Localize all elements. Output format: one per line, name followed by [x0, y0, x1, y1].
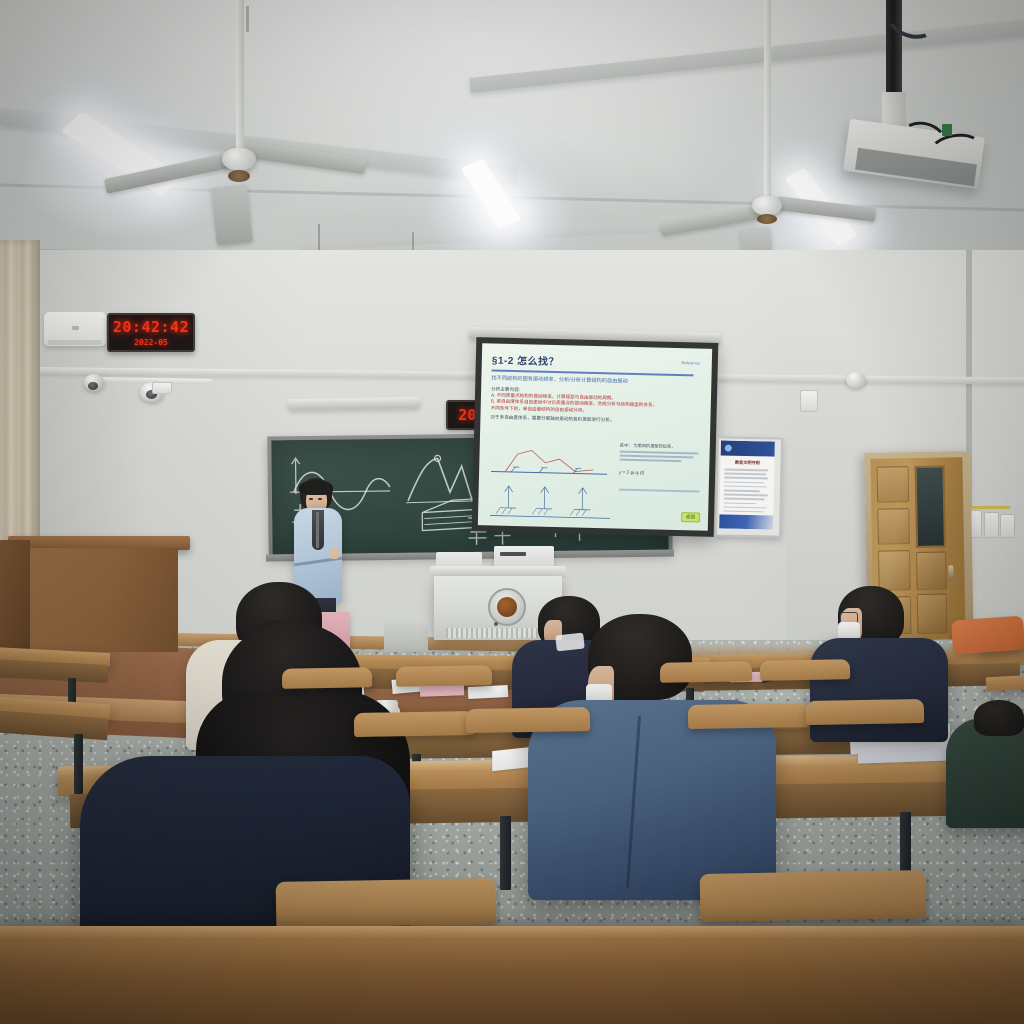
poster-line [724, 489, 760, 491]
poster-logo-icon [725, 445, 732, 452]
wall-socket-2 [984, 512, 999, 538]
hanging-wire-3 [246, 6, 249, 32]
security-camera-3 [846, 372, 866, 388]
poster-line [724, 485, 767, 487]
slide-title: §1-2 怎么找？ [492, 351, 702, 371]
chair-back [688, 703, 808, 729]
poster-line [724, 469, 768, 472]
security-camera-1-lens [88, 382, 98, 390]
desk-leg [74, 734, 83, 794]
student-3-collar [555, 633, 585, 652]
chair-back-foreground [700, 870, 927, 922]
projector-indicator [942, 124, 952, 136]
chair-back [760, 659, 850, 681]
slide-line-4: 对于多自由度体系，需要分离轴向振动的各阶振型进行分析。 [490, 415, 700, 427]
poster-footer-band [719, 514, 773, 529]
teacher-eye-right [318, 498, 322, 500]
podium-button[interactable] [494, 622, 498, 626]
slide-note-right: 其中： 为第四阶振型的位移， [620, 443, 704, 451]
teacher-hair-front [299, 480, 333, 495]
lectern-side [0, 540, 30, 658]
poster-line [724, 502, 756, 504]
podium-monitor-strip [500, 552, 526, 556]
poster-line [724, 477, 768, 480]
slide-return-button[interactable]: 返回 [681, 512, 700, 522]
poster-line [724, 473, 766, 475]
wall-sticker-yellow [972, 506, 1010, 509]
fan-rod-1 [236, 0, 244, 150]
door-glass-pane [915, 466, 946, 549]
door-panel-ml [877, 508, 910, 545]
wall-socket-3 [1000, 514, 1015, 538]
poster-line [724, 506, 767, 508]
podium-vent-grill [446, 628, 550, 638]
poster-line [724, 481, 764, 483]
blackboard-lamp [288, 397, 420, 410]
poster-line [724, 494, 768, 497]
door-panel-br [916, 552, 947, 591]
wooden-lectern [22, 548, 178, 652]
poster-header-band [721, 440, 775, 456]
projector-screen: §1-2 怎么找？ Reference 找不同结构的固有振动频率，分析/分析计算… [478, 343, 712, 531]
door-panel-br2 [917, 594, 948, 635]
slide-formula: y = Σ φᵢ qᵢ (t) [619, 470, 703, 477]
led-wall-clock: 20:42:42 2022-05 [107, 313, 195, 352]
podium-emblem-inner [497, 597, 517, 617]
slide-bottom-rule [619, 489, 700, 493]
slide-subtitle: 找不同结构的固有振动频率，分析/分析计算结构的自由振动 [491, 375, 701, 387]
paper-sheet [468, 685, 509, 699]
clock-time: 20:42:42 [109, 318, 193, 337]
student-5-body [810, 638, 948, 742]
fan-hub-1 [222, 148, 256, 170]
teacher-collar-line [316, 512, 319, 548]
classroom-photo: 20:42:42 2022-05 [0, 0, 1024, 1024]
foreground-desk-edge [0, 926, 1024, 938]
podium-side-cabinet [384, 618, 428, 652]
slide-diagram [486, 435, 616, 524]
wall-plate-1 [152, 382, 172, 394]
slide-note-line-2 [620, 454, 694, 458]
wall-poster: 教室文明守则 [719, 440, 775, 529]
chair-back [466, 707, 590, 733]
fan-hub-2 [752, 196, 782, 215]
slide-note-line-1 [620, 450, 699, 454]
poster-line [723, 510, 763, 512]
chair-back [806, 699, 924, 725]
air-conditioner-logo [72, 326, 79, 330]
poster-title: 教室文明守则 [724, 460, 770, 467]
chair-back [282, 667, 372, 689]
student-6-hair [974, 700, 1024, 736]
fan-motor-2 [757, 214, 777, 224]
desk-right-far-2 [986, 675, 1024, 692]
door-panel-bl [878, 550, 911, 591]
slide-note-line-3 [619, 459, 681, 463]
foreground-desk [0, 930, 1024, 1024]
slide-corner-label: Reference [681, 360, 700, 365]
chair-back [396, 665, 492, 687]
podium-emblem [488, 588, 526, 626]
wall-plate-2 [800, 390, 818, 412]
desk-leg [500, 816, 511, 890]
poster-line [724, 498, 765, 500]
door-panel-tl [877, 466, 910, 503]
chair-back [354, 711, 474, 737]
teacher-eye-left [309, 498, 313, 500]
fan-motor-1 [228, 170, 250, 182]
door-handle[interactable] [948, 565, 953, 579]
orange-clothing-on-desk [951, 616, 1024, 655]
fan-blade-1c [211, 184, 253, 245]
chair-back [660, 661, 752, 683]
air-conditioner-vent [48, 340, 102, 345]
fan-rod-2 [764, 0, 771, 196]
clock-date: 2022-05 [109, 337, 193, 348]
chair-back-foreground [276, 878, 497, 928]
teacher-hand [330, 548, 339, 559]
